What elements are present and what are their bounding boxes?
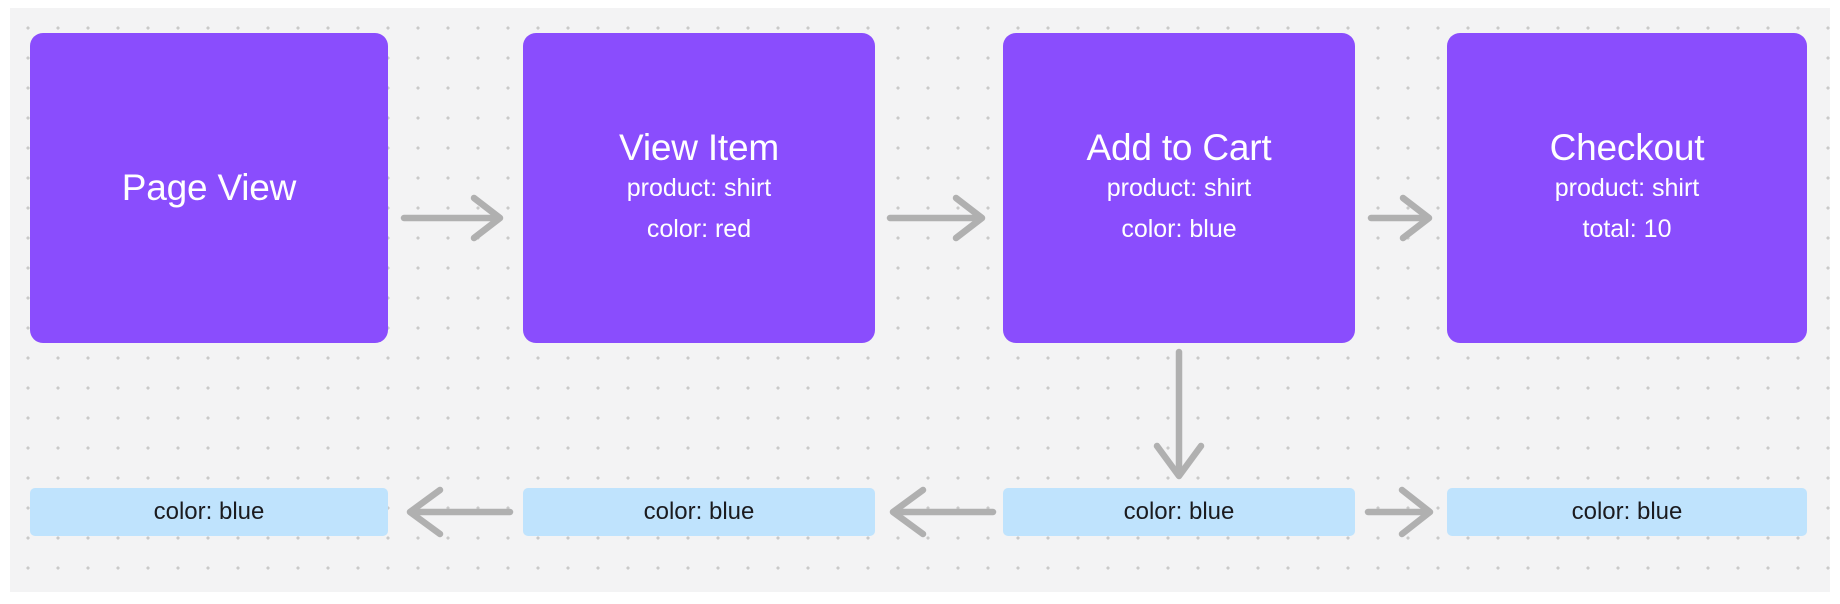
event-node-property: product: shirt — [1555, 168, 1700, 209]
event-node-view-item[interactable]: View Item product: shirt color: red — [523, 33, 875, 343]
event-node-add-to-cart[interactable]: Add to Cart product: shirt color: blue — [1003, 33, 1355, 343]
edge-property-node-2-to-property-node-1 — [398, 482, 514, 542]
event-node-title: Add to Cart — [1087, 127, 1272, 168]
edge-add-to-cart-to-property-node-3 — [1149, 348, 1209, 486]
event-node-property: color: red — [647, 209, 751, 250]
property-node-3[interactable]: color: blue — [1003, 488, 1355, 536]
property-node-1[interactable]: color: blue — [30, 488, 388, 536]
event-node-property: product: shirt — [1107, 168, 1252, 209]
property-node-label: color: blue — [644, 500, 755, 524]
edge-property-node-3-to-property-node-2 — [887, 482, 997, 542]
event-node-checkout[interactable]: Checkout product: shirt total: 10 — [1447, 33, 1807, 343]
event-node-title: View Item — [619, 127, 779, 168]
event-node-title: Page View — [122, 167, 296, 208]
edge-view-item-to-add-to-cart — [886, 188, 994, 248]
event-node-title: Checkout — [1550, 127, 1705, 168]
edge-add-to-cart-to-checkout — [1367, 188, 1439, 248]
property-node-4[interactable]: color: blue — [1447, 488, 1807, 536]
property-node-label: color: blue — [154, 500, 265, 524]
event-node-property: product: shirt — [627, 168, 772, 209]
event-node-page-view[interactable]: Page View — [30, 33, 388, 343]
property-node-label: color: blue — [1124, 500, 1235, 524]
property-node-label: color: blue — [1572, 500, 1683, 524]
property-node-2[interactable]: color: blue — [523, 488, 875, 536]
event-node-property: total: 10 — [1583, 209, 1672, 250]
event-node-property: color: blue — [1121, 209, 1236, 250]
edge-page-view-to-view-item — [400, 188, 512, 248]
edge-property-node-3-to-property-node-4 — [1366, 482, 1440, 542]
diagram-canvas[interactable]: Page View View Item product: shirt color… — [10, 8, 1830, 592]
